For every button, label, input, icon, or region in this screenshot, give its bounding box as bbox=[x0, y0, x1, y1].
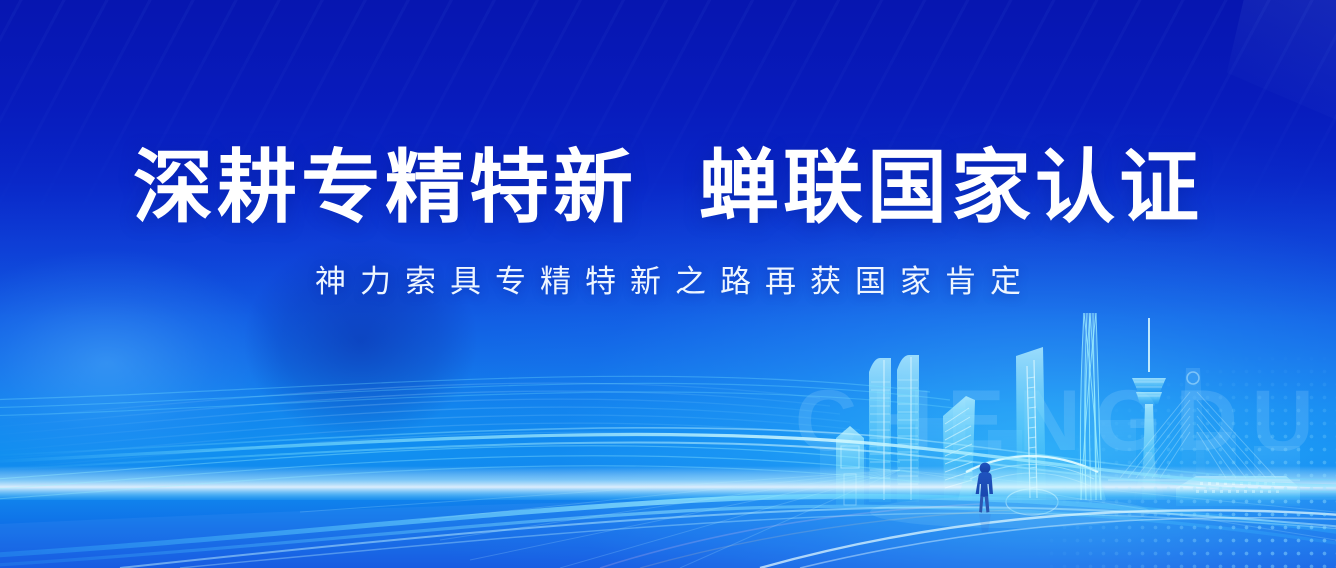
subtitle-text: 神力索具专精特新之路再获国家肯定 bbox=[0, 256, 1336, 301]
road-highlight bbox=[870, 496, 1150, 528]
headline-phrase-1: 深耕专精特新 bbox=[133, 146, 637, 230]
horizon-glow bbox=[0, 466, 1336, 500]
promotional-banner: CHENGDU bbox=[0, 0, 1336, 568]
headline-row: 深耕专精特新 蝉联国家认证 bbox=[0, 146, 1336, 230]
headline-phrase-2: 蝉联国家认证 bbox=[699, 146, 1203, 230]
